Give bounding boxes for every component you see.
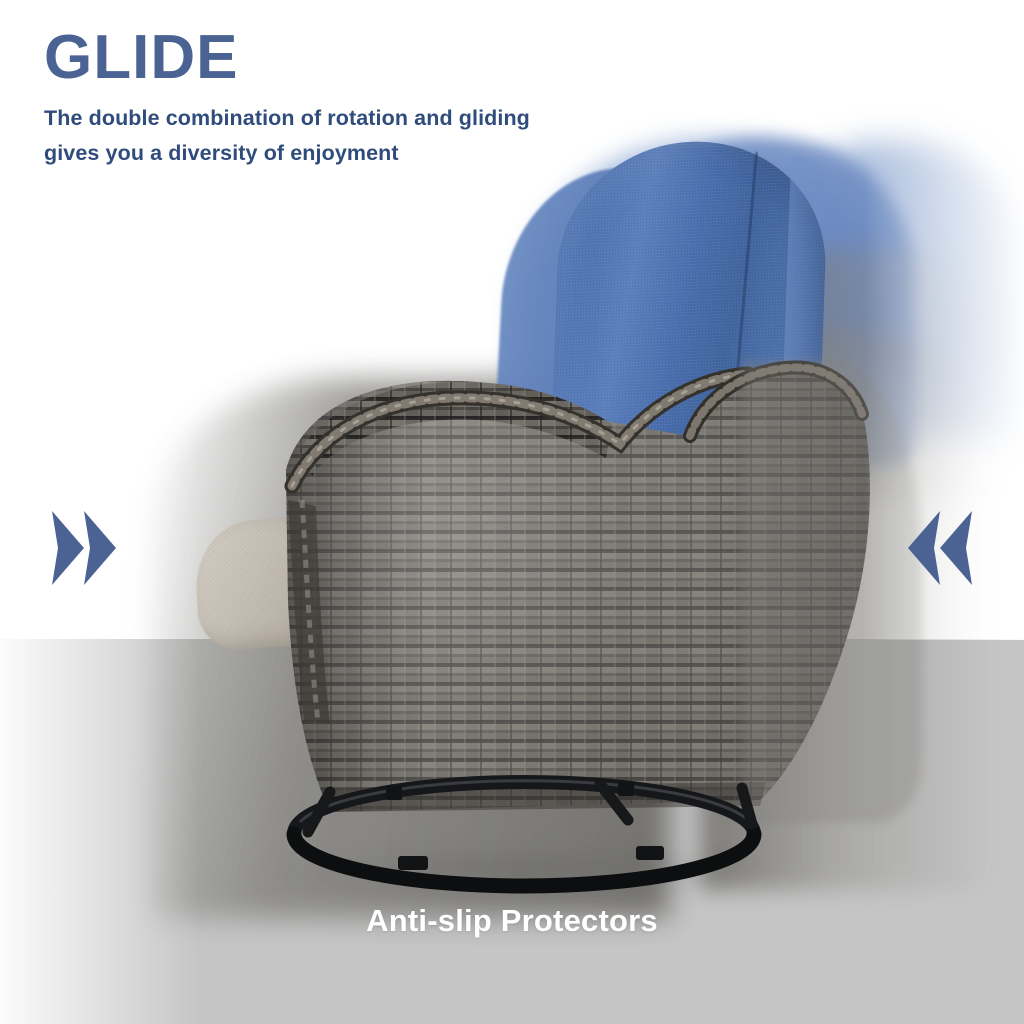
double-chevron-left-icon	[902, 505, 974, 596]
anti-slip-protector-pad-front-left	[398, 856, 428, 870]
chevron-right-icon-2	[84, 511, 116, 585]
anti-slip-protector-pad-rear-left	[386, 786, 402, 800]
chevron-left-pair-svg	[902, 505, 974, 591]
product-feature-image: GLIDE The double combination of rotation…	[0, 0, 1024, 1024]
double-chevron-right-icon	[50, 505, 122, 596]
anti-slip-protector-pad-front-right	[636, 846, 664, 860]
feature-caption: Anti-slip Protectors	[0, 903, 1024, 939]
subtitle-line-1: The double combination of rotation and g…	[44, 101, 684, 136]
headline-block: GLIDE The double combination of rotation…	[44, 26, 684, 171]
subtitle-line-2: gives you a diversity of enjoyment	[44, 136, 684, 171]
chevron-right-pair-svg	[50, 505, 122, 591]
swivel-base-ring-front	[294, 834, 754, 886]
chevron-left-icon-2	[908, 511, 940, 585]
chevron-right-icon-1	[52, 511, 84, 585]
anti-slip-protector-pad-rear-right	[618, 782, 634, 796]
chevron-left-icon-1	[940, 511, 972, 585]
page-title: GLIDE	[44, 26, 684, 89]
